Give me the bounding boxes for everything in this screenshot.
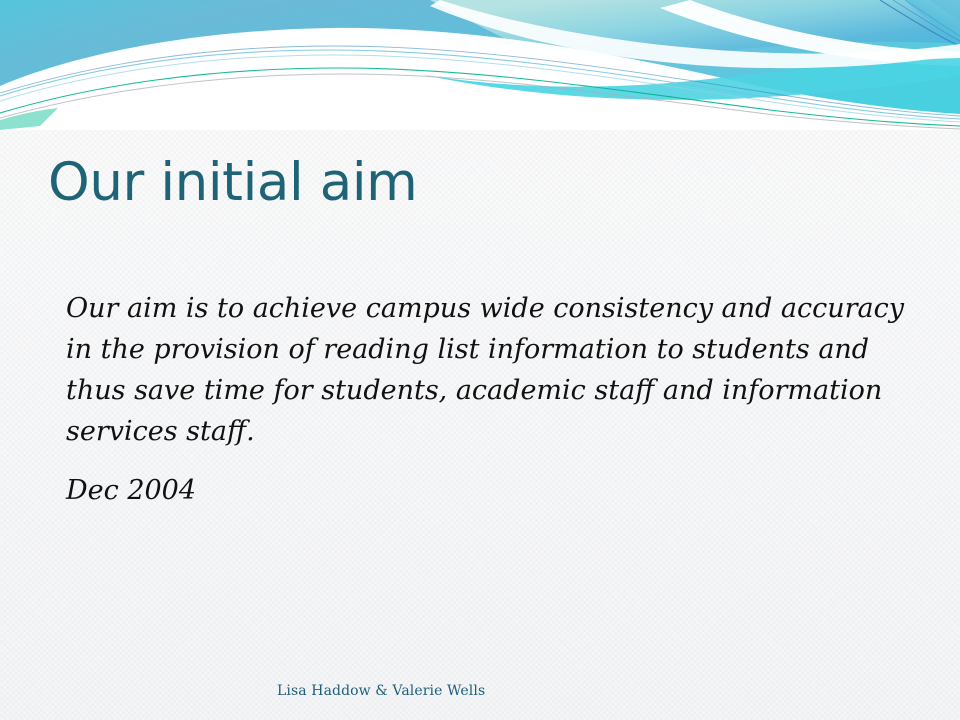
slide-body-text: Our aim is to achieve campus wide consis… <box>66 288 916 511</box>
page-title: Our initial aim <box>48 154 908 211</box>
slide-footer-authors: Lisa Haddow & Valerie Wells <box>277 683 485 699</box>
flow-wave-banner-graphic <box>0 0 960 130</box>
body-paragraph-date: Dec 2004 <box>66 470 916 511</box>
slide: Our initial aim Our aim is to achieve ca… <box>0 0 960 720</box>
body-paragraph-aim: Our aim is to achieve campus wide consis… <box>66 288 916 452</box>
